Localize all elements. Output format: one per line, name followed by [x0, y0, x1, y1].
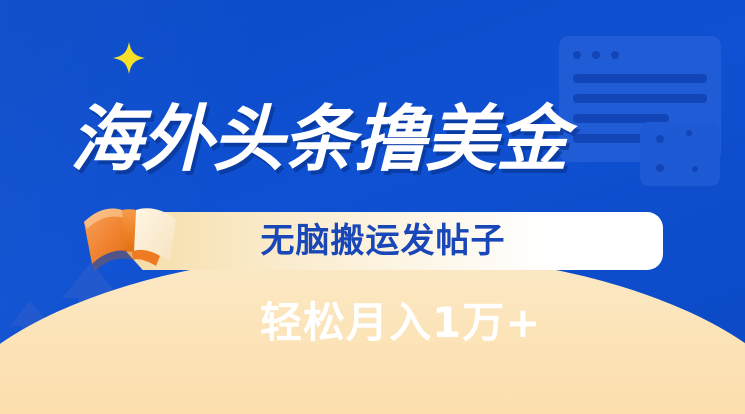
subtitle-banner: 无脑搬运发帖子 — [143, 212, 663, 270]
open-book-icon — [76, 198, 184, 290]
star-sparkle-icon — [112, 41, 146, 75]
window-line — [573, 74, 707, 83]
subtitle-text: 无脑搬运发帖子 — [143, 212, 623, 270]
window-dots — [573, 51, 619, 59]
window-dot — [573, 51, 581, 59]
page-title: 海外头条撸美金 — [70, 97, 690, 181]
window-dot — [611, 51, 619, 59]
window-dot — [592, 51, 600, 59]
promo-poster: 海外头条撸美金 无脑搬运发帖子 — [0, 0, 745, 414]
grid-dot — [692, 166, 698, 172]
tagline-text: 轻松月入1万+ — [260, 296, 560, 350]
